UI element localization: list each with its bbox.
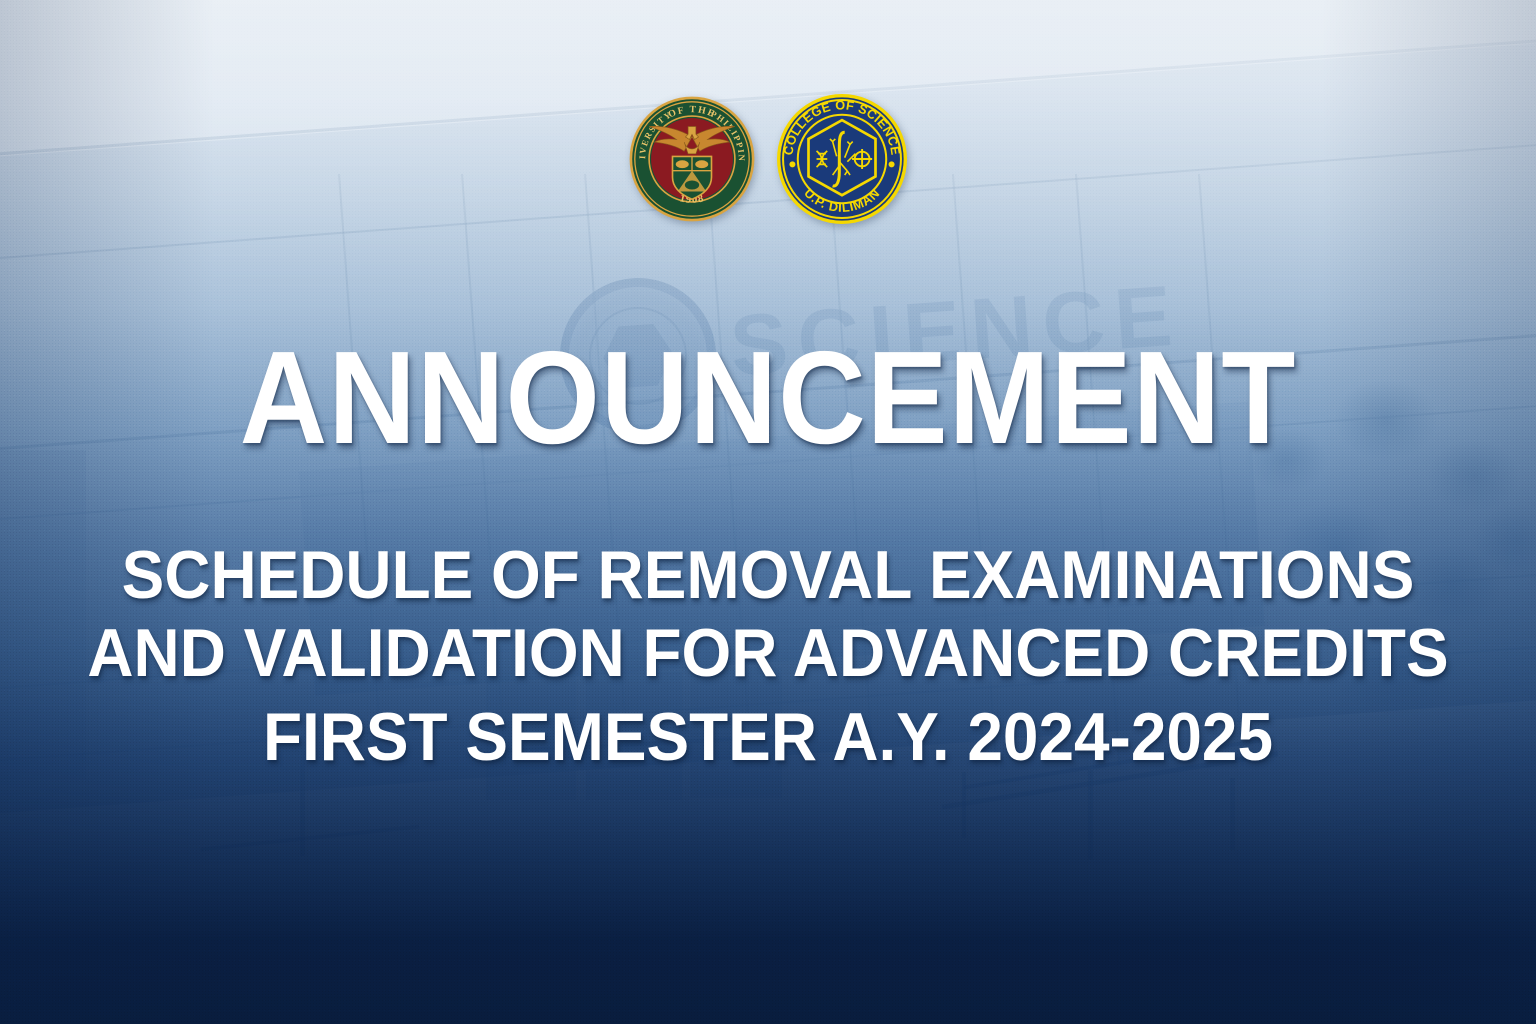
dna-helix-icon (817, 151, 828, 167)
subtitle: SCHEDULE OF REMOVAL EXAMINATIONS AND VAL… (46, 536, 1490, 777)
seal-row: OF THE UNIVERSITY PHILIPPINES 1908 (0, 92, 1536, 226)
page-title: ANNOUNCEMENT (61, 332, 1474, 464)
up-seal-icon: OF THE UNIVERSITY PHILIPPINES 1908 (627, 94, 757, 224)
announcement-poster: SCIENCE (0, 0, 1536, 1024)
subtitle-line-1: SCHEDULE OF REMOVAL EXAMINATIONS (46, 536, 1490, 614)
subtitle-line-3: FIRST SEMESTER A.Y. 2024-2025 (46, 698, 1490, 776)
college-of-science-seal-icon: COLLEGE OF SCIENCE U.P. DILIMAN (775, 92, 909, 226)
subtitle-line-2: AND VALIDATION FOR ADVANCED CREDITS (46, 614, 1490, 692)
